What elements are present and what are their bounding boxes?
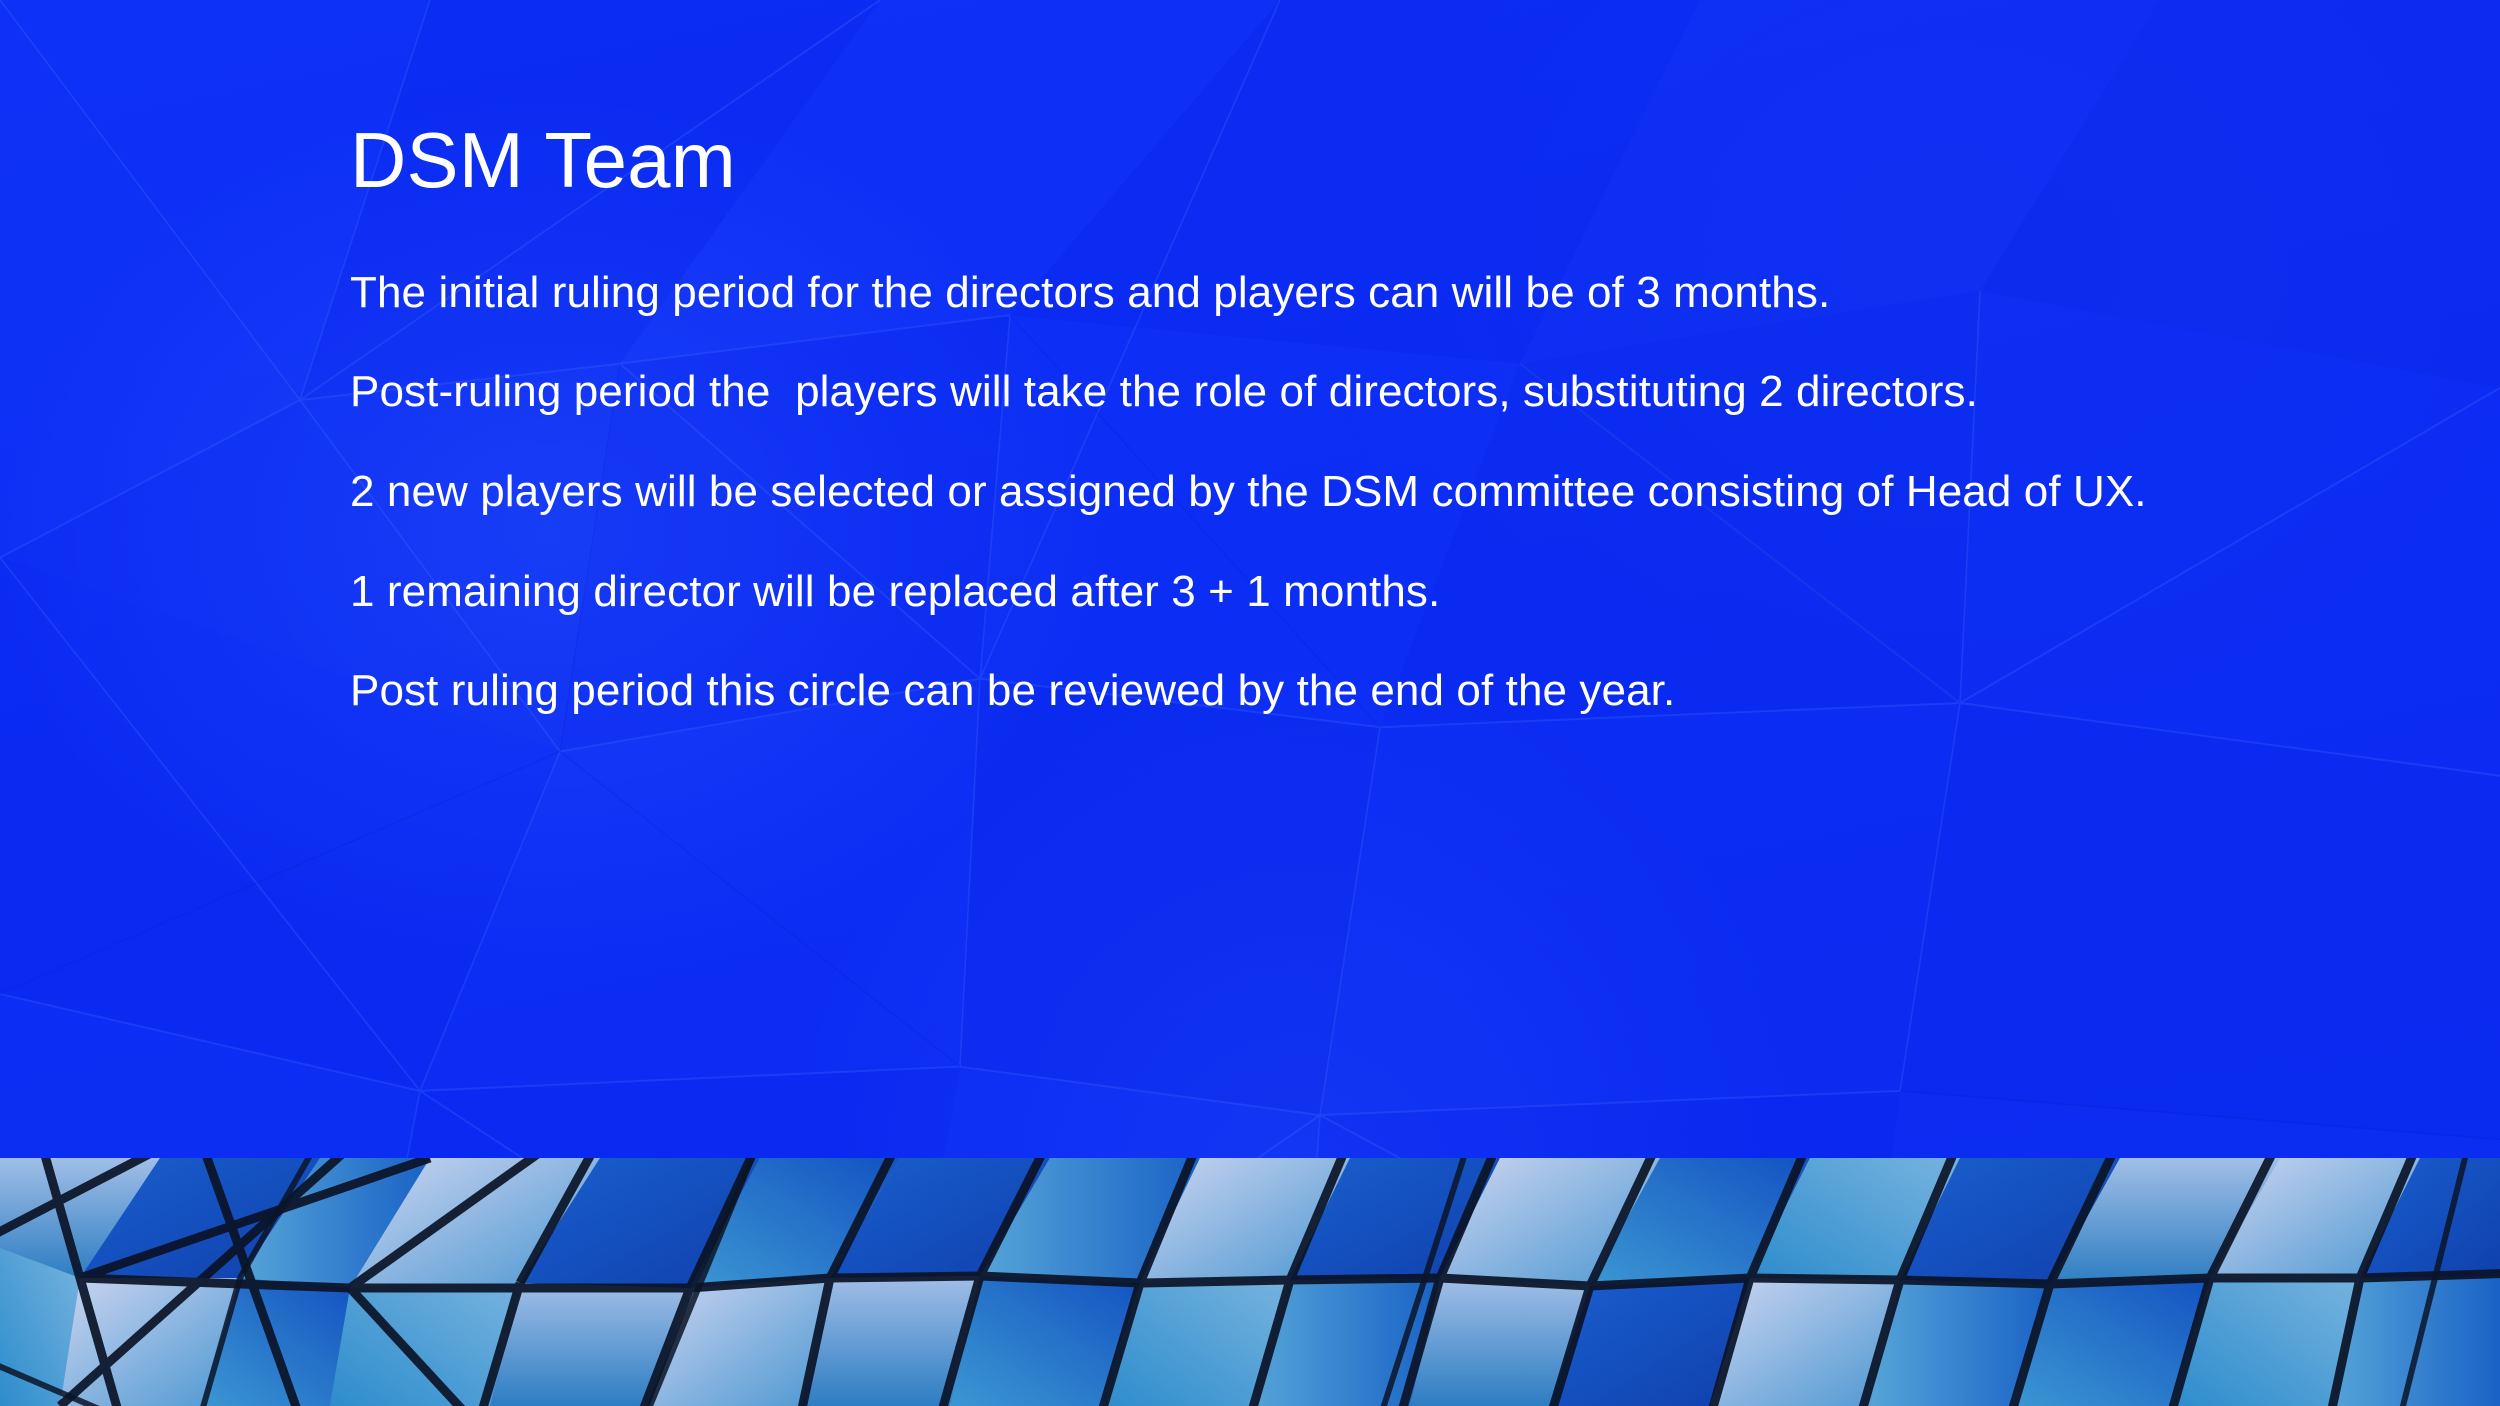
body-paragraph-2: Post-ruling period the players will take… [350, 365, 2180, 419]
body-paragraph-5: Post ruling period this circle can be re… [350, 664, 2180, 718]
body-paragraph-1: The initial ruling period for the direct… [350, 266, 2180, 320]
body-paragraph-list: The initial ruling period for the direct… [350, 266, 2230, 718]
presentation-slide: DSM Team The initial ruling period for t… [0, 0, 2500, 1406]
slide-content: DSM Team The initial ruling period for t… [350, 118, 2230, 718]
body-paragraph-3: 2 new players will be selected or assign… [350, 465, 2180, 519]
decorative-faceted-glass-photo [0, 1158, 2500, 1406]
body-paragraph-4: 1 remaining director will be replaced af… [350, 565, 2180, 619]
page-title: DSM Team [350, 118, 2230, 204]
